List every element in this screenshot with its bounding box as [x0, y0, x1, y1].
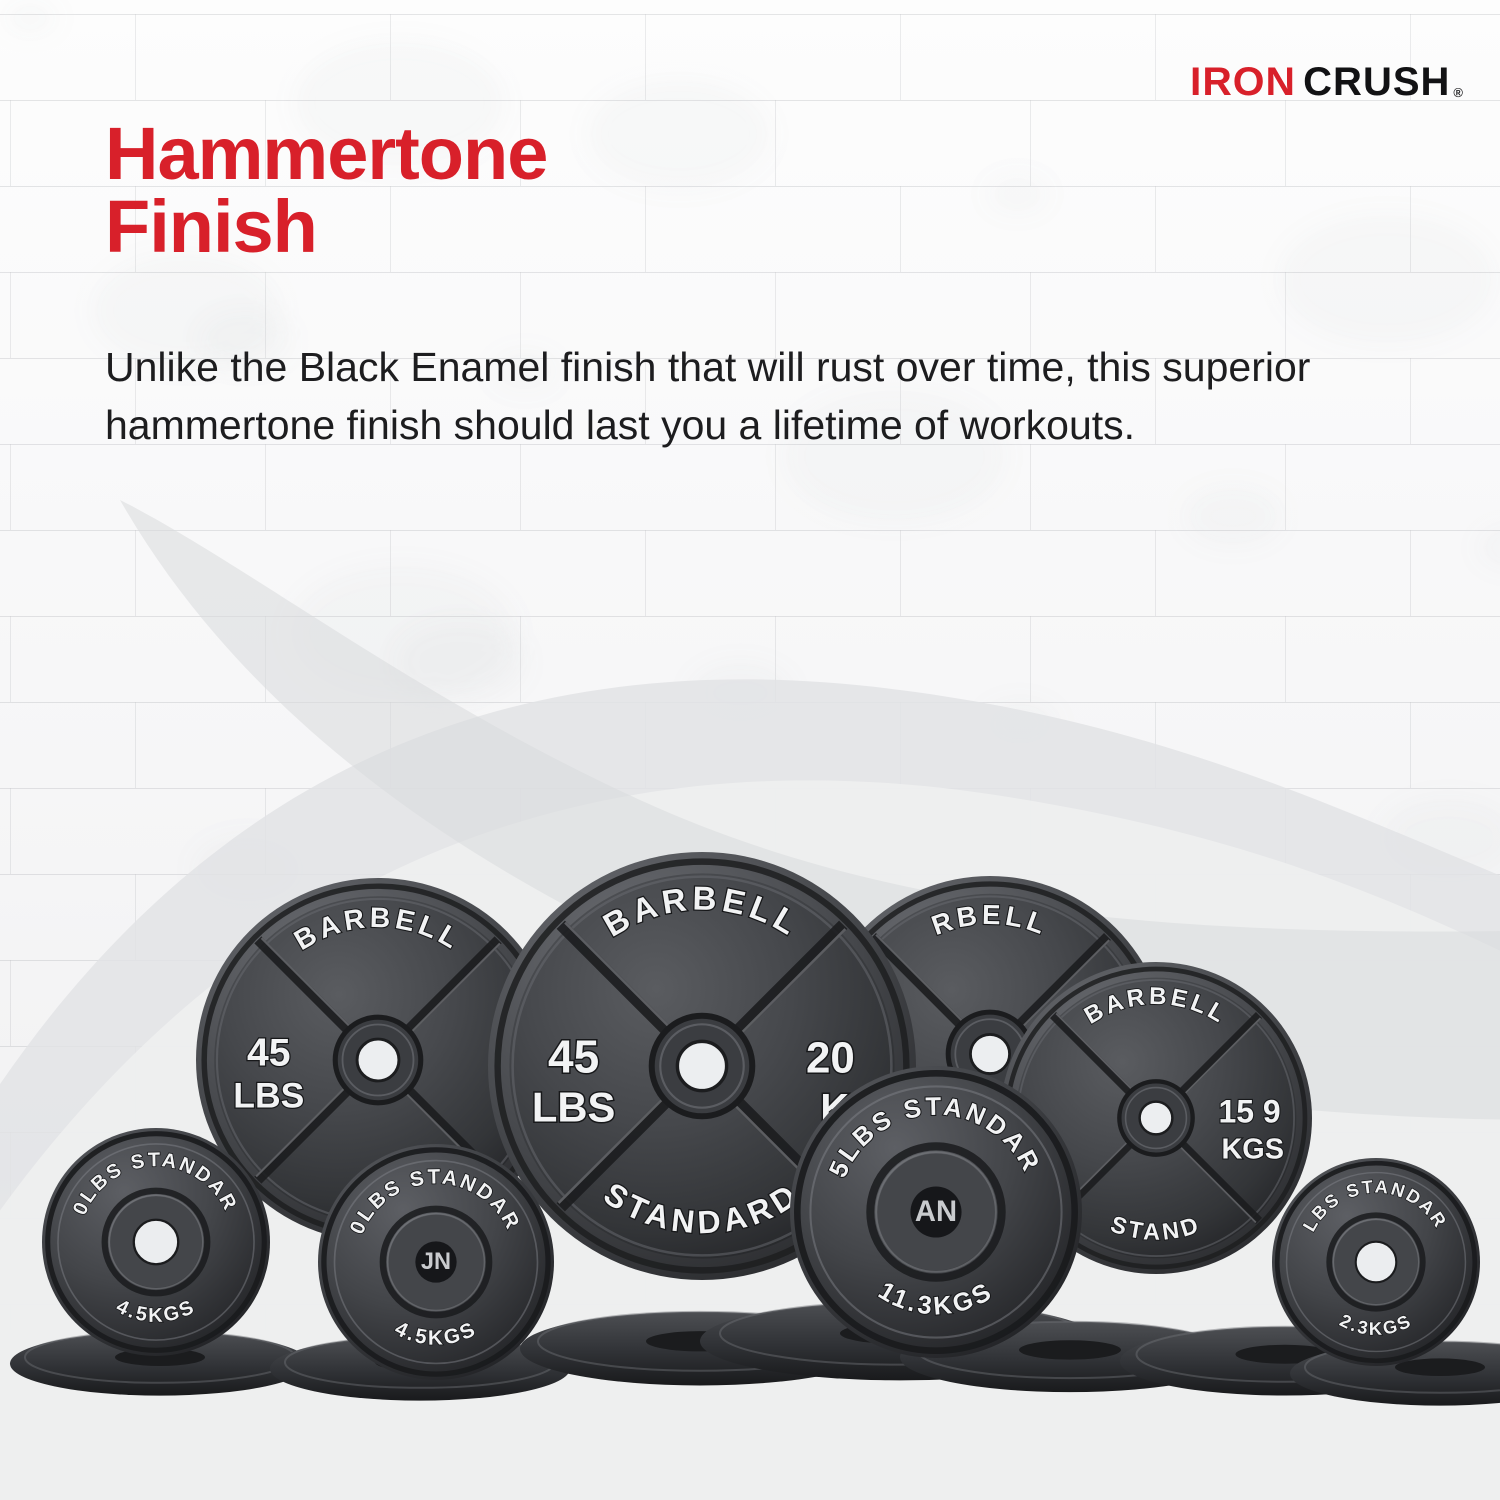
plate-plate-5lbs: 5LBS STANDARD2.3KGS [1272, 1158, 1480, 1366]
plate-plate-25lbs: 25LBS STANDARD11.3KGSAN [790, 1066, 1082, 1358]
registered-trademark-icon: ® [1453, 85, 1464, 100]
svg-text:JN: JN [421, 1249, 451, 1275]
svg-text:45: 45 [548, 1030, 599, 1082]
svg-text:45: 45 [247, 1031, 291, 1074]
brand-logo: IRON CRUSH ® [1191, 60, 1464, 105]
svg-text:15 9: 15 9 [1218, 1094, 1280, 1130]
product-feature-poster: IRON CRUSH ® Hammertone Finish Unlike th… [0, 0, 1500, 1500]
svg-text:LBS: LBS [233, 1075, 304, 1115]
page-title: Hammertone Finish [105, 118, 547, 263]
logo-iron-text: IRON [1190, 60, 1296, 105]
body-description: Unlike the Black Enamel finish that will… [105, 338, 1375, 454]
plate-plate-10lbs-a: 10LBS STANDARD4.5KGS [42, 1128, 270, 1356]
svg-text:LBS: LBS [532, 1084, 615, 1131]
logo-crush-text: CRUSH [1303, 60, 1450, 105]
plate-plate-10lbs-b: 10LBS STANDARD4.5KGSJN [318, 1144, 554, 1380]
svg-text:AN: AN [915, 1196, 957, 1228]
